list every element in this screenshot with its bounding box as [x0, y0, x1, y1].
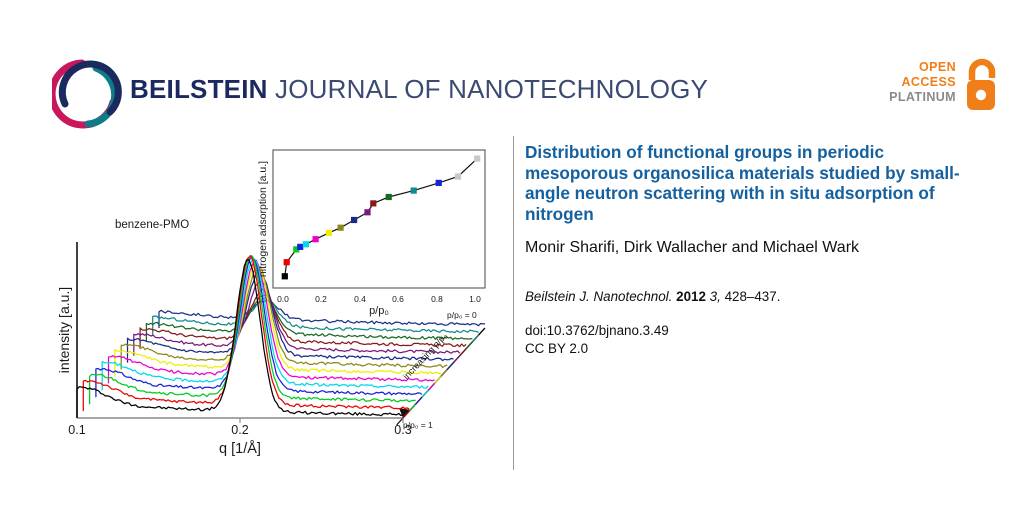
beilstein-ring-logo [52, 56, 128, 132]
isotherm-data-point [303, 241, 309, 247]
open-access-line-access: ACCESS [889, 75, 956, 90]
author-list: Monir Sharifi, Dirk Wallacher and Michae… [525, 238, 977, 258]
isotherm-data-point [338, 225, 344, 231]
waterfall-depth-connector [441, 370, 447, 377]
inset-x-tick-5: 1.0 [469, 294, 481, 304]
main-y-axis-label: intensity [a.u.] [56, 287, 72, 373]
inset-x-ticks: 0.0 0.2 0.4 0.6 0.8 1.0 [277, 294, 481, 304]
waterfall-depth-connector [416, 397, 422, 404]
journal-wordmark: BEILSTEIN JOURNAL OF NANOTECHNOLOGY [130, 72, 708, 106]
waterfall-depth-connector [447, 363, 453, 370]
waterfall-depth-connector [472, 335, 478, 342]
figure-canvas: benzene-PMO 0.1 0.2 0.3 q [1/Å] intensit… [55, 132, 505, 462]
license-text: CC BY 2.0 [525, 340, 977, 358]
inset-x-axis-label: p/p₀ [369, 305, 389, 317]
isotherm-data-point [474, 156, 480, 162]
isotherm-data-point [386, 194, 392, 200]
citation-year: 2012 [676, 289, 706, 304]
depth-label-bottom: p/p₀ = 1 [403, 420, 433, 430]
waterfall-depth-connector [466, 342, 472, 349]
figure-sans-waterfall: benzene-PMO 0.1 0.2 0.3 q [1/Å] intensit… [55, 132, 505, 462]
main-x-axis-label: q [1/Å] [219, 440, 261, 457]
sample-label: benzene-PMO [115, 219, 189, 231]
x-tick-0: 0.1 [68, 423, 85, 437]
isotherm-data-point [351, 217, 357, 223]
isotherm-data-point [326, 230, 332, 236]
isotherm-data-point [455, 173, 461, 179]
page-title: Distribution of functional groups in per… [525, 142, 977, 224]
inset-x-tick-3: 0.6 [392, 294, 404, 304]
waterfall-depth-connector [435, 377, 441, 384]
isotherm-data-point [364, 209, 370, 215]
open-access-text: OPEN ACCESS PLATINUM [889, 60, 956, 105]
open-access-line-platinum: PLATINUM [889, 90, 956, 105]
isotherm-data-point [282, 273, 288, 279]
masthead: BEILSTEIN JOURNAL OF NANOTECHNOLOGY OPEN… [0, 0, 1024, 135]
waterfall-curve [140, 289, 466, 349]
isotherm-data-point [297, 244, 303, 250]
inset-y-axis-label: nitrogen adsorption [a.u.] [257, 161, 269, 277]
inset-x-tick-2: 0.4 [354, 294, 366, 304]
open-lock-icon [959, 58, 1003, 114]
waterfall-depth-connector [409, 404, 415, 411]
inset-x-tick-0: 0.0 [277, 294, 289, 304]
isotherm-data-point [313, 236, 319, 242]
waterfall-curve [146, 295, 472, 342]
depth-label-top: p/p₀ = 0 [447, 310, 477, 320]
article-metadata: Distribution of functional groups in per… [525, 142, 977, 358]
waterfall-depth-connector [428, 383, 434, 390]
inset-x-tick-1: 0.2 [315, 294, 327, 304]
open-access-line-open: OPEN [889, 60, 956, 75]
citation-pages: 428–437. [725, 289, 781, 304]
waterfall-depth-connector [422, 390, 428, 397]
open-access-badge: OPEN ACCESS PLATINUM [893, 58, 1003, 120]
citation-journal: Beilstein J. Nanotechnol. [525, 289, 672, 304]
citation: Beilstein J. Nanotechnol. 2012 3, 428–43… [525, 288, 977, 306]
wordmark-journal-of-nanotechnology: JOURNAL OF NANOTECHNOLOGY [268, 74, 709, 104]
isotherm-data-point [284, 259, 290, 265]
isotherm-data-point [436, 180, 442, 186]
waterfall-depth-connector [454, 356, 460, 363]
x-tick-1: 0.2 [231, 423, 248, 437]
inset-isotherm: 0.0 0.2 0.4 0.6 0.8 1.0 p/p₀ nitrogen ad… [257, 150, 485, 317]
isotherm-data-point [370, 200, 376, 206]
page-root: BEILSTEIN JOURNAL OF NANOTECHNOLOGY OPEN… [0, 0, 1024, 512]
inset-x-tick-4: 0.8 [431, 294, 443, 304]
citation-volume: 3, [710, 289, 721, 304]
doi-text: doi:10.3762/bjnano.3.49 [525, 322, 977, 340]
isotherm-data-point [411, 188, 417, 194]
wordmark-beilstein: BEILSTEIN [130, 74, 268, 104]
column-divider [513, 136, 514, 470]
waterfall-depth-connector [460, 349, 466, 356]
waterfall-curve [159, 300, 485, 328]
main-x-ticks: 0.1 0.2 0.3 [68, 418, 411, 437]
